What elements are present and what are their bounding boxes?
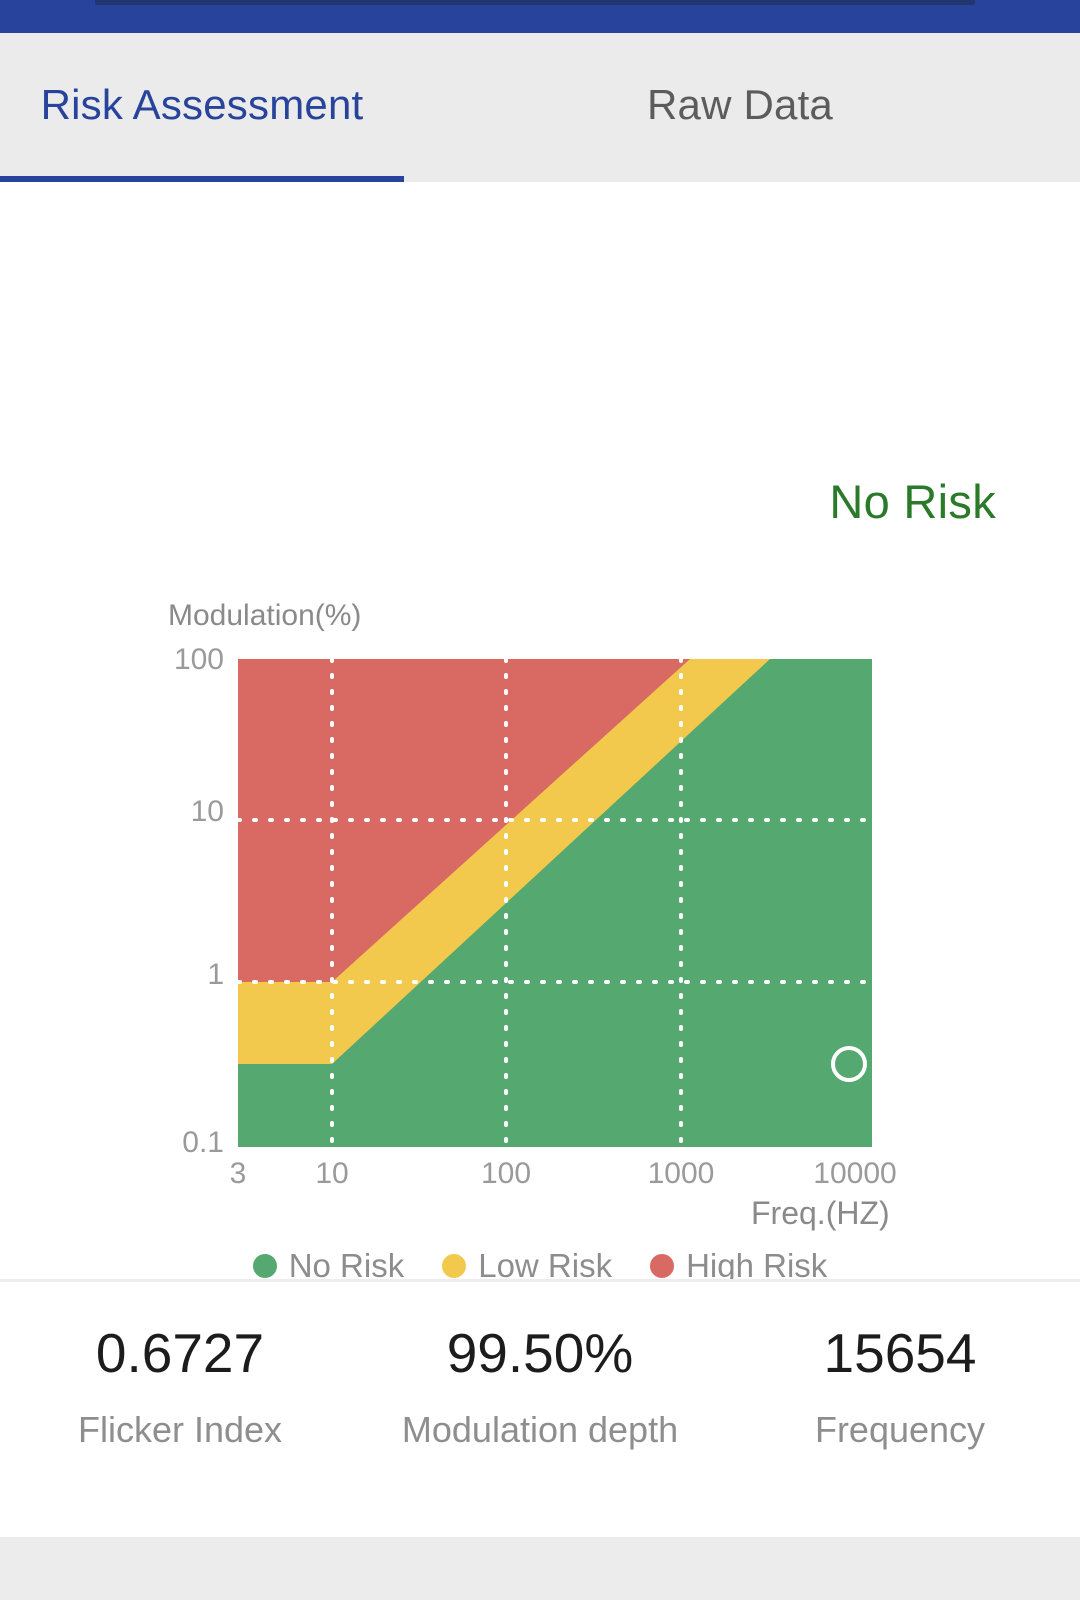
chart-y-axis-ticks: 100 10 1 0.1 <box>0 587 224 1227</box>
metric-flicker-index-value: 0.6727 <box>96 1326 264 1381</box>
app-bar <box>0 0 1080 33</box>
metric-modulation-depth: 99.50% Modulation depth <box>360 1282 720 1537</box>
metric-frequency-value: 15654 <box>824 1326 977 1381</box>
legend-dot-high-risk-icon <box>650 1254 674 1278</box>
tab-bar: Risk Assessment Raw Data <box>0 33 1080 182</box>
chart-x-axis-ticks: 3 10 100 1000 10000 <box>0 1157 1080 1201</box>
x-tick-label-3: 3 <box>230 1157 247 1191</box>
chart-plot-svg <box>238 659 872 1147</box>
y-tick-label-100: 100 <box>174 643 224 677</box>
metric-modulation-depth-value: 99.50% <box>447 1326 634 1381</box>
par1789-risk-chart: Modulation(%) 100 10 1 0.1 <box>0 587 1080 1347</box>
metric-flicker-index: 0.6727 Flicker Index <box>0 1282 360 1537</box>
tab-raw-data[interactable]: Raw Data <box>538 33 942 182</box>
tab-risk-assessment[interactable]: Risk Assessment <box>0 33 404 182</box>
x-tick-label-1000: 1000 <box>648 1157 715 1191</box>
x-tick-label-10: 10 <box>315 1157 348 1191</box>
metric-modulation-depth-label: Modulation depth <box>402 1412 678 1448</box>
x-tick-label-10000: 10000 <box>813 1157 896 1191</box>
legend-dot-low-risk-icon <box>442 1254 466 1278</box>
x-tick-label-100: 100 <box>481 1157 531 1191</box>
metric-frequency-label: Frequency <box>815 1412 985 1448</box>
risk-assessment-panel: No Risk Modulation(%) 100 10 1 0.1 <box>0 182 1080 1280</box>
metric-flicker-index-label: Flicker Index <box>78 1412 282 1448</box>
chart-data-point-marker[interactable] <box>831 1046 867 1082</box>
app-bar-inner-strip <box>95 0 975 5</box>
y-tick-label-10: 10 <box>191 795 224 829</box>
risk-status-badge: No Risk <box>829 474 996 529</box>
y-tick-label-0.1: 0.1 <box>182 1126 224 1160</box>
chart-plot-area <box>238 659 872 1147</box>
y-tick-label-1: 1 <box>207 958 224 992</box>
bottom-panel <box>0 1537 1080 1600</box>
legend-dot-no-risk-icon <box>253 1254 277 1278</box>
metric-frequency: 15654 Frequency <box>720 1282 1080 1537</box>
metrics-row: 0.6727 Flicker Index 99.50% Modulation d… <box>0 1282 1080 1537</box>
chart-x-axis-title: Freq.(HZ) <box>751 1195 890 1232</box>
